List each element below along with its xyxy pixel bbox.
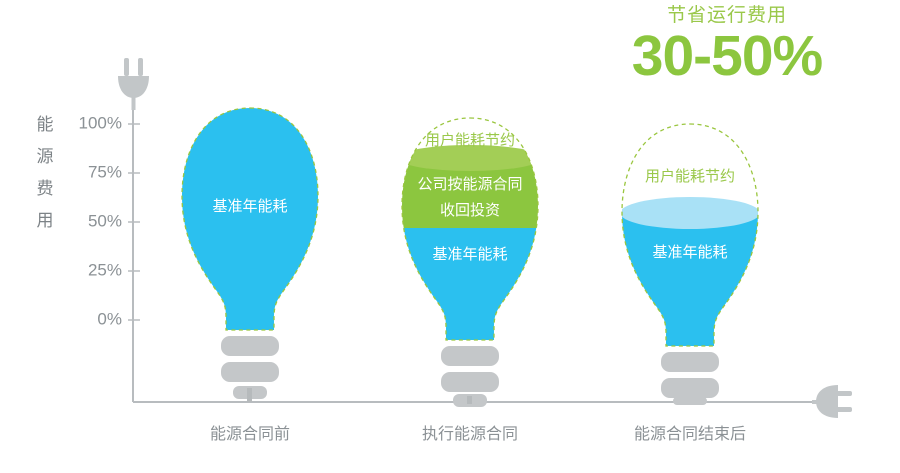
bulb-segment-label: 基准年能耗 (652, 244, 727, 261)
bulb-during-contract[interactable]: 用户能耗节约 公司按能源合同 收回投资 基准年能耗 执行能源合同 (390, 118, 550, 443)
headline-value: 30-50% (602, 27, 852, 87)
y-axis-title-char: 源 (37, 147, 54, 166)
bulb-before-contract[interactable]: 基准年能耗 能源合同前 (170, 108, 330, 443)
x-axis-category-label: 能源合同结束后 (634, 425, 746, 443)
bulb-base (441, 346, 499, 407)
headline-block: 节省运行费用 30-50% (602, 6, 852, 87)
x-axis-category-label: 能源合同前 (210, 425, 290, 443)
y-tick-label: 50% (88, 211, 122, 230)
y-tick-label: 75% (88, 162, 122, 181)
bulb-saving-label: 用户能耗节约 (645, 168, 735, 185)
x-axis-category-label: 执行能源合同 (422, 425, 518, 443)
y-tick-label: 100% (79, 113, 122, 132)
plug-icon (118, 58, 149, 110)
bulb-segment-label-line2: 收回投资 (440, 202, 500, 219)
bulb-saving-label: 用户能耗节约 (425, 132, 515, 149)
y-axis-title-char: 能 (37, 115, 54, 134)
y-axis-title-char: 用 (37, 211, 54, 230)
y-axis (118, 58, 149, 402)
bulb-after-contract[interactable]: 用户能耗节约 基准年能耗 能源合同结束后 (610, 124, 770, 443)
bulb-segment-baseline-energy (610, 213, 770, 363)
plug-socket-icon (812, 385, 852, 418)
bulb-segment-label-line1: 公司按能源合同 (417, 176, 522, 193)
y-axis-title-char: 费 (37, 179, 54, 198)
bulb-base (661, 352, 719, 405)
bulb-surface-ellipse (620, 197, 760, 229)
infographic-canvas: 100% 75% 50% 25% 0% 能 源 费 用 (0, 0, 900, 473)
bulb-segment-label: 基准年能耗 (432, 246, 507, 263)
y-tick-100: 100% (79, 113, 140, 132)
y-tick-label: 25% (88, 260, 122, 279)
y-axis-title: 能 源 费 用 (37, 115, 54, 230)
bulb-base (221, 336, 279, 402)
bulb-segment-label: 基准年能耗 (212, 198, 287, 215)
bulb-fill-group (610, 197, 770, 363)
y-tick-label: 0% (97, 309, 122, 328)
y-axis-ticks: 100% 75% 50% 25% 0% (79, 113, 140, 328)
